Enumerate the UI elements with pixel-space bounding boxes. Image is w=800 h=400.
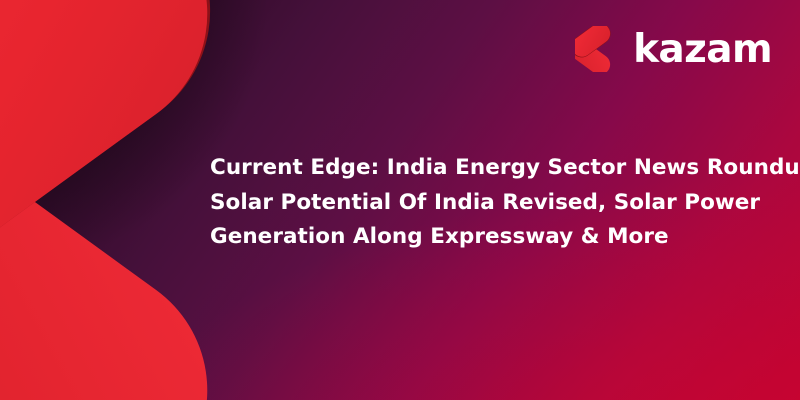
article-banner: kazam Current Edge: India Energy Sector … bbox=[0, 0, 800, 400]
brand-wordmark: kazam bbox=[633, 30, 772, 69]
brand-logo[interactable]: kazam bbox=[575, 26, 772, 72]
page-title-line: Solar Potential Of India Revised, Solar … bbox=[210, 186, 758, 221]
page-title-line: Generation Along Expressway & More bbox=[210, 220, 758, 255]
page-title: Current Edge: India Energy Sector News R… bbox=[210, 151, 758, 255]
page-title-line: Current Edge: India Energy Sector News R… bbox=[210, 151, 758, 186]
kazam-chevron-icon bbox=[575, 26, 620, 72]
